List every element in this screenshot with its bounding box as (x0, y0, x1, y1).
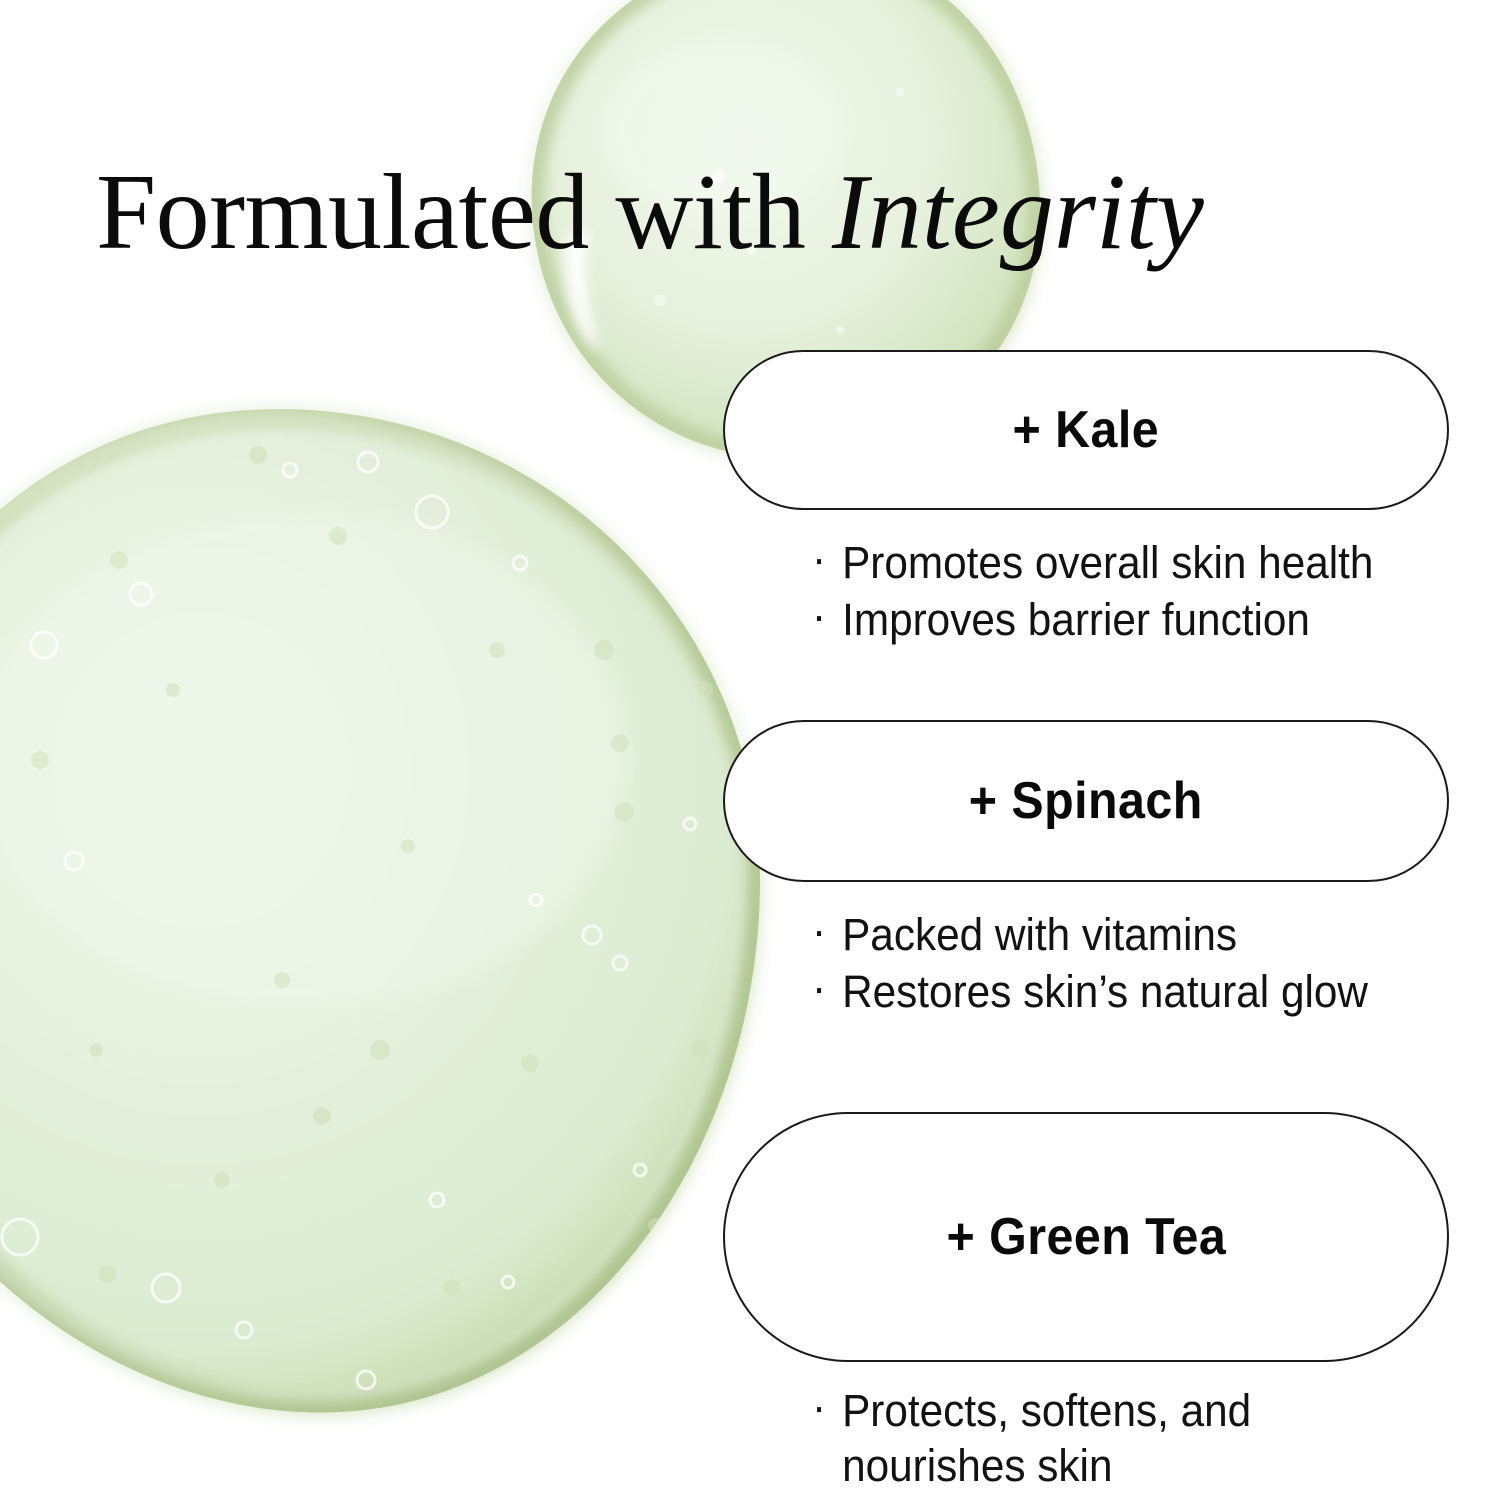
ingredient-pill-label-spinach: + Spinach (969, 771, 1203, 831)
ingredient-card-green-tea: + Green Tea Protects, softens, and nouri… (723, 1112, 1453, 1500)
gel-droplet-large (0, 409, 760, 1412)
benefit-item: Packed with vitamins (812, 908, 1415, 963)
page-title-regular: Formulated with (96, 153, 832, 272)
ingredient-benefits-spinach: Packed with vitamins Restores skin’s nat… (723, 908, 1453, 1020)
ingredient-pill-kale[interactable]: + Kale (723, 350, 1449, 510)
benefit-item: Protects, softens, and nourishes skin (812, 1384, 1415, 1494)
promo-canvas: Formulated with Integrity + Kale Promote… (0, 0, 1500, 1500)
benefit-item: Restores skin’s natural glow (812, 965, 1415, 1020)
ingredient-card-kale: + Kale Promotes overall skin health Impr… (723, 350, 1453, 664)
benefit-item: Promotes overall skin health (812, 536, 1415, 591)
benefit-item: Improves barrier function (812, 593, 1415, 648)
ingredient-benefits-green-tea: Protects, softens, and nourishes skin (723, 1384, 1453, 1494)
ingredient-list: + Kale Promotes overall skin health Impr… (723, 0, 1453, 1500)
ingredient-pill-label-kale: + Kale (1013, 400, 1160, 460)
ingredient-card-spinach: + Spinach Packed with vitamins Restores … (723, 720, 1453, 1036)
ingredient-pill-label-green-tea: + Green Tea (946, 1207, 1226, 1267)
ingredient-benefits-kale: Promotes overall skin health Improves ba… (723, 536, 1453, 648)
ingredient-pill-green-tea[interactable]: + Green Tea (723, 1112, 1449, 1362)
ingredient-pill-spinach[interactable]: + Spinach (723, 720, 1449, 882)
